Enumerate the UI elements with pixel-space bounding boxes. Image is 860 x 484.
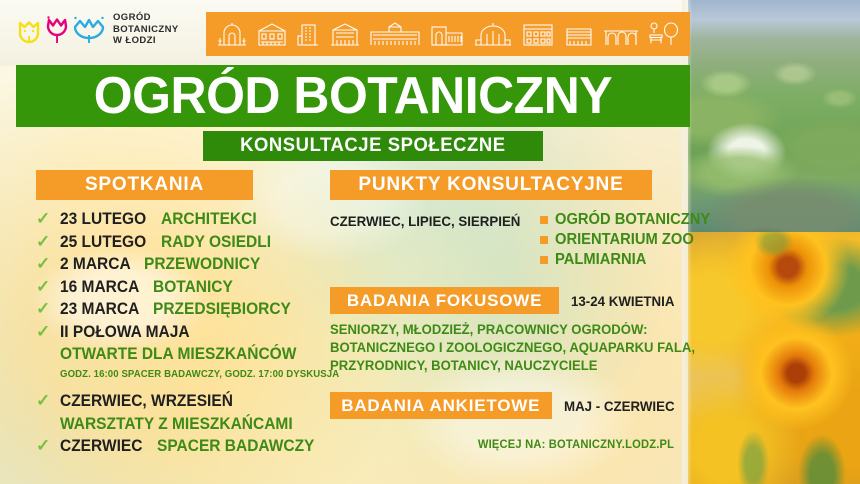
- market-hall-icon: [473, 21, 513, 47]
- apartment-block-icon: [296, 21, 320, 47]
- check-icon: ✓: [36, 209, 51, 228]
- list-item: ORIENTARIUM ZOO: [540, 230, 718, 249]
- list-item: ✓ WARSZTATY Z MIESZKAŃCAMI: [36, 414, 326, 434]
- meeting-date: CZERWIEC, WRZESIEŃ: [60, 391, 233, 411]
- place-name: PALMIARNIA: [555, 250, 646, 269]
- palace-icon: [329, 21, 361, 47]
- meeting-date: CZERWIEC: [60, 436, 142, 456]
- poster-root: Ogród Botaniczny w Łodzi: [0, 0, 860, 484]
- focus-research-groups: SENIORZY, MŁODZIEŻ, PRACOWNICY OGRODÓW: …: [330, 321, 680, 375]
- photo-daylilies: [688, 232, 860, 484]
- place-name: ORIENTARIUM ZOO: [555, 230, 694, 249]
- list-item: ✓ II POŁOWA MAJA: [36, 322, 326, 342]
- list-item: ✓ 23 LUTEGO ARCHITEKCI: [36, 209, 326, 229]
- focus-research-line: BOTANICZNEGO I ZOOLOGICZNEGO, AQUAPARKU …: [330, 339, 670, 357]
- meeting-audience: OTWARTE DLA MIESZKAŃCÓW: [60, 344, 296, 364]
- more-info-link[interactable]: WIĘCEJ NA: BOTANICZNY.LODZ.PL: [341, 439, 681, 451]
- landmark-icon-strip: [206, 12, 690, 56]
- check-icon: ✓: [36, 436, 51, 455]
- grand-palace-icon: [369, 21, 421, 47]
- manor-house-icon: [256, 21, 288, 47]
- bullet-square-icon: [540, 256, 548, 264]
- survey-research-dates: MAJ - CZERWIEC: [564, 398, 675, 414]
- page-subtitle: KONSULTACJE SPOŁECZNE: [240, 135, 505, 157]
- consultation-points-body: CZERWIEC, LIPIEC, SIERPIEŃ OGRÓD BOTANIC…: [330, 210, 680, 269]
- meetings-heading: SPOTKANIA: [36, 170, 253, 200]
- museum-gateway-icon: [429, 21, 465, 47]
- survey-research-heading: BADANIA ANKIETOWE: [330, 392, 552, 419]
- meeting-time-note: GODZ. 16:00 SPACER BADAWCZY, GODZ. 17:00…: [60, 368, 315, 382]
- meeting-date: 2 MARCA: [60, 254, 131, 274]
- logo-line-2: Botaniczny: [113, 24, 179, 36]
- list-item: ✓ 2 MARCA PRZEWODNICY: [36, 254, 326, 274]
- park-tree-bench-icon: [648, 21, 680, 47]
- meeting-date: II POŁOWA MAJA: [60, 322, 190, 342]
- bullet-square-icon: [540, 216, 548, 224]
- check-icon-placeholder: ✓: [36, 344, 51, 363]
- viaduct-icon: [602, 21, 640, 47]
- place-name: OGRÓD BOTANICZNY: [555, 210, 710, 229]
- meetings-list: ✓ 23 LUTEGO ARCHITEKCI ✓ 25 LUTEGO RADY …: [36, 209, 326, 364]
- consultation-points-months: CZERWIEC, LIPIEC, SIERPIEŃ: [330, 210, 520, 231]
- check-icon: ✓: [36, 232, 51, 251]
- meeting-audience: ARCHITEKCI: [161, 209, 257, 229]
- page-title: OGRÓD BOTANICZNY: [94, 70, 612, 122]
- survey-research-header: BADANIA ANKIETOWE MAJ - CZERWIEC: [330, 392, 680, 419]
- tenement-house-icon: [521, 21, 555, 47]
- meetings-section: SPOTKANIA ✓ 23 LUTEGO ARCHITEKCI ✓ 25 LU…: [36, 170, 326, 459]
- list-item: ✓ 25 LUTEGO RADY OSIEDLI: [36, 232, 326, 252]
- consultation-points-heading: PUNKTY KONSULTACYJNE: [330, 170, 652, 200]
- check-icon-placeholder: ✓: [36, 414, 51, 433]
- logo-line-3: w Łodzi: [113, 35, 179, 47]
- list-item: ✓ CZERWIEC SPACER BADAWCZY: [36, 436, 326, 456]
- focus-research-line: SENIORZY, MŁODZIEŻ, PRACOWNICY OGRODÓW:: [330, 321, 670, 339]
- meeting-date: 16 MARCA: [60, 277, 139, 297]
- meetings-list-secondary: ✓ CZERWIEC, WRZESIEŃ ✓ WARSZTATY Z MIESZ…: [36, 391, 326, 456]
- subtitle-banner: KONSULTACJE SPOŁECZNE: [203, 131, 543, 161]
- tulip-cyan-icon: [72, 14, 106, 44]
- check-icon: ✓: [36, 322, 51, 341]
- right-column: PUNKTY KONSULTACYJNE CZERWIEC, LIPIEC, S…: [330, 170, 680, 451]
- main-title-banner: OGRÓD BOTANICZNY: [16, 65, 690, 127]
- meeting-audience: PRZEDSIĘBIORCY: [153, 299, 291, 319]
- meeting-audience: WARSZTATY Z MIESZKAŃCAMI: [60, 414, 293, 434]
- logo-line-1: Ogród: [113, 12, 179, 24]
- list-item: ✓ 23 MARCA PRZEDSIĘBIORCY: [36, 299, 326, 319]
- logo-wordmark: Ogród Botaniczny w Łodzi: [113, 12, 179, 47]
- tulip-logo-marks: [16, 14, 106, 44]
- meeting-audience: SPACER BADAWCZY: [157, 436, 314, 456]
- bullet-square-icon: [540, 236, 548, 244]
- meeting-date: 25 LUTEGO: [60, 232, 146, 252]
- focus-research-header: BADANIA FOKUSOWE 13-24 KWIETNIA: [330, 287, 680, 314]
- meeting-audience: BOTANICY: [153, 277, 233, 297]
- meeting-date: 23 LUTEGO: [60, 209, 146, 229]
- tulip-yellow-icon: [16, 14, 42, 44]
- tulip-magenta-icon: [44, 14, 70, 44]
- logo[interactable]: Ogród Botaniczny w Łodzi: [16, 12, 179, 47]
- focus-research-heading: BADANIA FOKUSOWE: [330, 287, 559, 314]
- check-icon: ✓: [36, 254, 51, 273]
- meeting-date: 23 MARCA: [60, 299, 139, 319]
- list-item: ✓ CZERWIEC, WRZESIEŃ: [36, 391, 326, 411]
- list-item: ✓ 16 MARCA BOTANICY: [36, 277, 326, 297]
- list-item: ✓ OTWARTE DLA MIESZKAŃCÓW: [36, 344, 326, 364]
- modern-building-icon: [564, 21, 594, 47]
- list-item: OGRÓD BOTANICZNY: [540, 210, 718, 229]
- meeting-audience: RADY OSIEDLI: [161, 232, 271, 252]
- check-icon: ✓: [36, 299, 51, 318]
- check-icon: ✓: [36, 277, 51, 296]
- gate-arch-icon: [216, 21, 248, 47]
- meeting-audience: PRZEWODNICY: [144, 254, 260, 274]
- focus-research-line: PRZYRODNICY, BOTANICY, NAUCZYCIELE: [330, 357, 670, 375]
- consultation-points-places: OGRÓD BOTANICZNY ORIENTARIUM ZOO PALMIAR…: [540, 210, 718, 269]
- list-item: PALMIARNIA: [540, 250, 718, 269]
- check-icon: ✓: [36, 391, 51, 410]
- focus-research-dates: 13-24 KWIETNIA: [571, 293, 674, 309]
